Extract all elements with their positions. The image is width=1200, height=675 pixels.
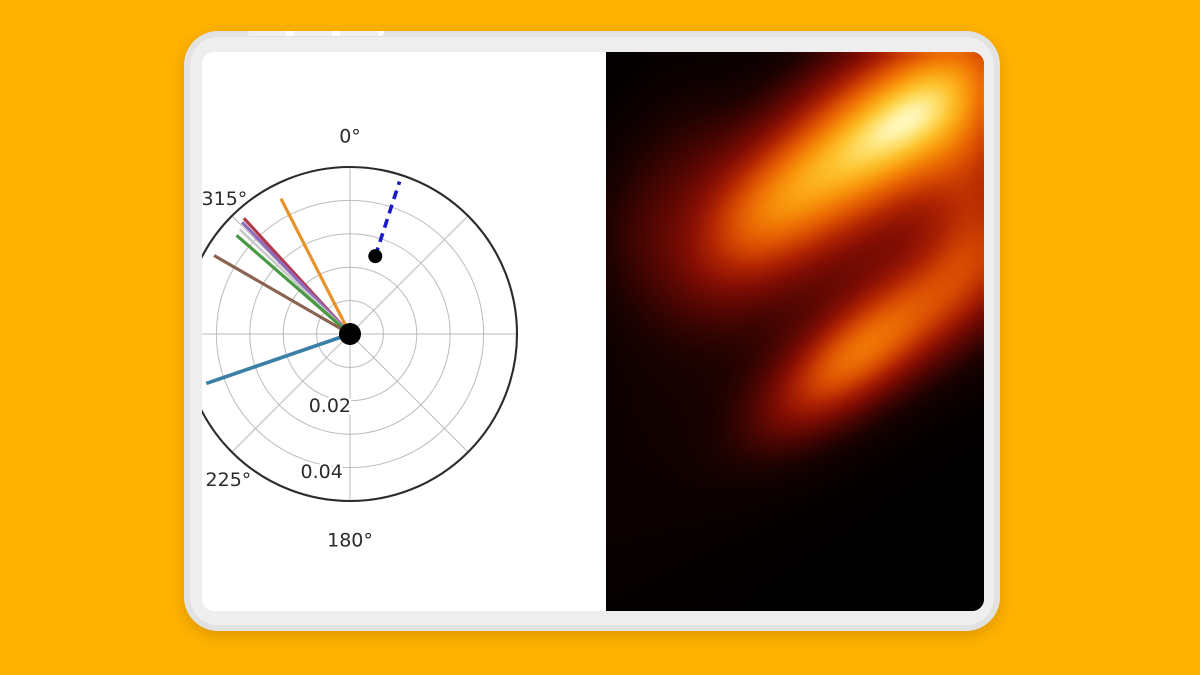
screenshot-root: 0°315°270°225°180°0.020.020.040.04 (0, 0, 1200, 675)
theta-tick-label-180: 180° (327, 530, 373, 552)
theta-tick-label-225: 225° (206, 469, 252, 491)
endpoint-dot[interactable] (368, 249, 382, 263)
tablet-speaker-grille (248, 31, 384, 36)
ray-green[interactable] (237, 235, 350, 334)
r-tick-label-0.04: 0.04 (301, 461, 343, 483)
polar-grid-spoke (350, 334, 468, 452)
polar-grid-spoke (232, 334, 350, 452)
r-tick-label-0.02: 0.02 (309, 395, 351, 417)
heatmap-image[interactable] (606, 52, 984, 611)
tablet-screen: 0°315°270°225°180°0.020.020.040.04 (202, 52, 984, 611)
ray-steelblue[interactable] (206, 334, 350, 383)
polar-plot-pane[interactable]: 0°315°270°225°180°0.020.020.040.04 (202, 52, 606, 611)
polar-chart[interactable]: 0°315°270°225°180°0.020.020.040.04 (202, 52, 606, 611)
polar-grid-spoke (350, 216, 468, 334)
theta-tick-label-0: 0° (339, 126, 361, 148)
origin-dot[interactable] (339, 323, 361, 345)
theta-tick-label-315: 315° (202, 188, 247, 210)
heatmap-pane[interactable] (606, 52, 984, 611)
